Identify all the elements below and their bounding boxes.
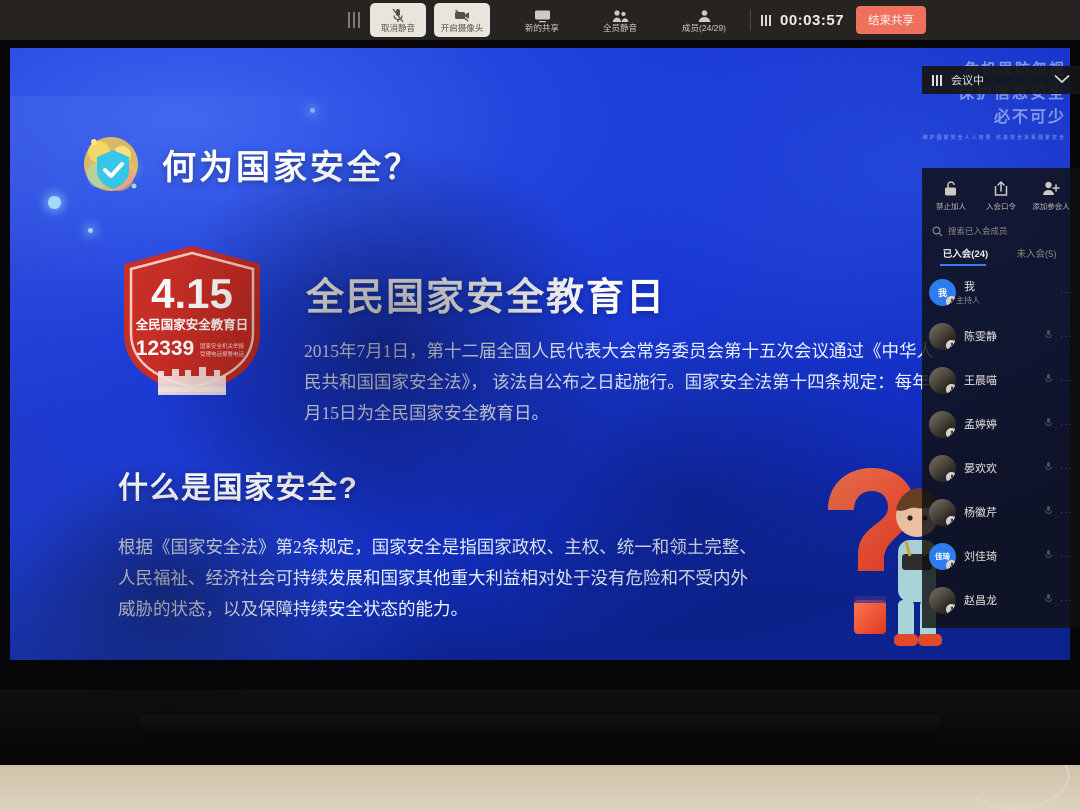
svg-text:12339: 12339 — [136, 337, 194, 360]
row-actions: ··· — [1044, 327, 1073, 345]
decor-dot — [48, 196, 61, 209]
avatar — [929, 587, 956, 614]
svg-text:受理电话报警电话: 受理电话报警电话 — [200, 350, 245, 358]
tab-joined[interactable]: 已入会(24) — [930, 246, 1001, 266]
timer-grip-icon — [761, 15, 773, 26]
more-options-icon[interactable]: ··· — [1060, 419, 1073, 430]
new-share-button[interactable]: 新的共享 — [514, 3, 570, 37]
microphone-muted-icon — [946, 340, 956, 350]
microphone-icon[interactable] — [1044, 371, 1053, 389]
mute-all-button[interactable]: 全员静音 — [592, 3, 648, 37]
more-options-icon[interactable]: ··· — [1060, 463, 1073, 474]
mute-all-label: 全员静音 — [603, 24, 637, 33]
row-actions: ··· — [1044, 547, 1073, 565]
lock-meeting-label: 禁止加人 — [936, 201, 966, 212]
microphone-muted-icon — [946, 604, 956, 614]
mute-all-icon — [612, 8, 629, 23]
national-security-day-badge: 4.15 全民国家安全教育日 12339 国家安全机关举报 受理电话报警电话 — [118, 244, 266, 396]
avatar — [929, 455, 956, 482]
slide-heading-1: 全民国家安全教育日 — [306, 266, 666, 321]
shared-screen-area: 何为国家安全？ 4.15 全民国家安全教育日 12339 国家安全机关举报 受理… — [10, 48, 1070, 660]
participant-name: 晏欢欢 — [964, 460, 997, 476]
more-options-icon[interactable]: ··· — [1060, 331, 1073, 342]
participant-name: 孟婷婷 — [964, 416, 997, 432]
list-item[interactable]: 王晨喵 ··· — [922, 358, 1080, 402]
microphone-icon[interactable] — [1044, 547, 1053, 565]
participants-panel: 禁止加人 入会口令 添加参会人 搜索已入会成员 已入会(24) 未入会(5) — [922, 168, 1080, 628]
search-icon — [932, 226, 943, 237]
list-item[interactable]: 我 我 主持人 ··· — [922, 270, 1080, 314]
meeting-toolbar: 取消静音 开启摄像头 新的共享 全员静音 成员(24/29) — [0, 0, 1080, 40]
microphone-muted-icon — [946, 472, 956, 482]
microphone-icon[interactable] — [1044, 591, 1053, 609]
participant-search-input[interactable]: 搜索已入会成员 — [932, 222, 1070, 240]
svg-text:全民国家安全教育日: 全民国家安全教育日 — [135, 317, 249, 332]
drag-grip-icon[interactable] — [932, 75, 943, 86]
list-item[interactable]: 晏欢欢 ··· — [922, 446, 1080, 490]
lock-open-icon — [943, 180, 959, 197]
meeting-passcode-label: 入会口令 — [986, 201, 1016, 212]
add-participant-label: 添加参会人 — [1032, 201, 1070, 212]
decor-dot — [88, 228, 93, 233]
avatar — [929, 367, 956, 394]
members-icon — [697, 8, 712, 23]
meeting-status-bar[interactable]: 会议中 — [922, 66, 1080, 94]
list-item[interactable]: 佳琦 刘佳琦 ··· — [922, 534, 1080, 578]
row-actions: ··· — [1044, 459, 1073, 477]
participant-list: 我 我 主持人 ··· 陈雯静 — [922, 270, 1080, 622]
slide-paragraph-1: 2015年7月1日，第十二届全国人民代表大会常务委员会第十五次会议通过《中华人民… — [304, 336, 944, 429]
new-share-label: 新的共享 — [525, 24, 559, 33]
mute-toggle-button[interactable]: 取消静音 — [370, 3, 426, 37]
more-options-icon[interactable]: ··· — [1060, 375, 1073, 386]
lock-meeting-button[interactable]: 禁止加人 — [928, 180, 974, 212]
more-options-icon[interactable]: ··· — [1060, 595, 1073, 606]
participant-name: 刘佳琦 — [964, 548, 997, 564]
camera-toggle-label: 开启摄像头 — [441, 24, 484, 33]
members-button[interactable]: 成员(24/29) — [672, 3, 736, 37]
row-actions: ··· — [1060, 287, 1073, 298]
participant-name: 杨徽芹 — [964, 504, 997, 520]
list-item[interactable]: 孟婷婷 ··· — [922, 402, 1080, 446]
search-placeholder: 搜索已入会成员 — [948, 225, 1008, 237]
university-logo: 西北政法大学 NORTHWEST UNIVERSITY OF POLITICAL… — [832, 656, 1070, 660]
microphone-icon[interactable] — [1044, 459, 1053, 477]
participant-role: 主持人 — [956, 295, 980, 306]
members-label: 成员(24/29) — [682, 24, 726, 33]
more-options-icon[interactable]: ··· — [1060, 551, 1073, 562]
participant-name: 陈雯静 — [964, 328, 997, 344]
share-link-icon — [993, 180, 1009, 197]
drag-grip-icon[interactable] — [348, 12, 362, 28]
avatar — [929, 323, 956, 350]
svg-text:4.15: 4.15 — [151, 270, 233, 317]
svg-text:国家安全机关举报: 国家安全机关举报 — [200, 342, 245, 350]
row-actions: ··· — [1044, 503, 1073, 521]
mute-toggle-label: 取消静音 — [381, 24, 415, 33]
microphone-muted-icon — [391, 8, 405, 23]
row-actions: ··· — [1044, 591, 1073, 609]
list-item[interactable]: 杨徽芹 ··· — [922, 490, 1080, 534]
university-name-cn: 西北政法大学 — [862, 656, 891, 660]
microphone-muted-icon — [946, 384, 956, 394]
slide-heading-2: 什么是国家安全? — [118, 463, 358, 507]
microphone-muted-icon — [946, 428, 956, 438]
more-options-icon[interactable]: ··· — [1060, 287, 1073, 298]
more-options-icon[interactable]: ··· — [1060, 507, 1073, 518]
active-tab-underline — [940, 264, 986, 266]
meeting-status-label: 会议中 — [951, 72, 984, 88]
slide-header-title: 何为国家安全？ — [162, 140, 421, 189]
meeting-passcode-button[interactable]: 入会口令 — [978, 180, 1024, 212]
tab-not-joined[interactable]: 未入会(5) — [1001, 246, 1072, 266]
end-share-button[interactable]: 结束共享 — [856, 6, 926, 34]
microphone-muted-icon — [946, 296, 956, 306]
microphone-icon[interactable] — [1044, 327, 1053, 345]
meeting-timer: 00:03:57 — [780, 12, 844, 29]
photo-of-monitor: HUAWEI 取消静音 开启摄像头 新的共享 — [0, 0, 1080, 810]
participant-name: 赵昌龙 — [964, 592, 997, 608]
avatar: 我 — [929, 279, 956, 306]
row-actions: ··· — [1044, 371, 1073, 389]
microphone-icon[interactable] — [1044, 503, 1053, 521]
monitor-stand — [140, 715, 940, 741]
camera-toggle-button[interactable]: 开启摄像头 — [434, 3, 490, 37]
list-item[interactable]: 赵昌龙 ··· — [922, 578, 1080, 622]
list-item[interactable]: 陈雯静 ··· — [922, 314, 1080, 358]
participant-name: 我 — [964, 278, 980, 294]
add-participant-button[interactable]: 添加参会人 — [1028, 180, 1074, 212]
avatar — [929, 411, 956, 438]
microphone-icon[interactable] — [1044, 415, 1053, 433]
row-actions: ··· — [1044, 415, 1073, 433]
shield-check-icon — [72, 128, 150, 206]
camera-off-icon — [454, 8, 470, 23]
microphone-muted-icon — [946, 516, 956, 526]
participant-tabs: 已入会(24) 未入会(5) — [922, 246, 1080, 266]
toolbar-divider — [750, 9, 751, 31]
chevron-down-icon[interactable] — [1054, 71, 1070, 89]
screen-share-icon — [534, 8, 551, 23]
panel-actions: 禁止加人 入会口令 添加参会人 — [922, 168, 1080, 220]
avatar-initials: 我 — [938, 286, 947, 299]
presentation-slide: 何为国家安全？ 4.15 全民国家安全教育日 12339 国家安全机关举报 受理… — [10, 48, 1070, 660]
slide-paragraph-2: 根据《国家安全法》第2条规定，国家安全是指国家政权、主权、统一和领土完整、人民福… — [118, 532, 758, 625]
poster-line-3: 必不可少 — [896, 103, 1066, 127]
decor-dot — [310, 108, 315, 113]
avatar — [929, 499, 956, 526]
add-user-icon — [1042, 180, 1060, 197]
poster-small-text: 维护国家安全人人有责 信息安全关系国家安全 — [896, 134, 1066, 142]
microphone-muted-icon — [946, 560, 956, 570]
participant-name: 王晨喵 — [964, 372, 997, 388]
avatar: 佳琦 — [929, 543, 956, 570]
